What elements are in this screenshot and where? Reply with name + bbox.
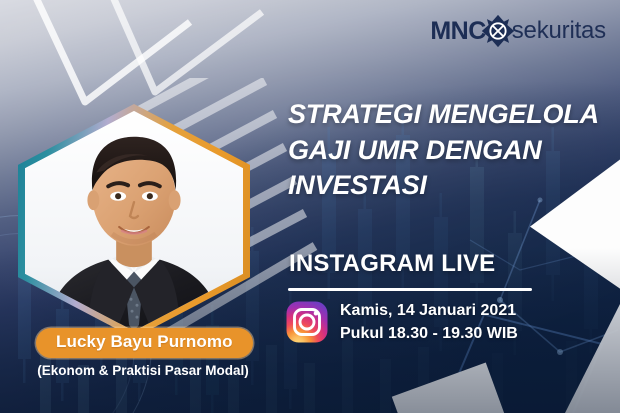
speaker-name-badge: Lucky Bayu Purnomo bbox=[36, 328, 253, 358]
event-schedule: Kamis, 14 Januari 2021 Pukul 18.30 - 19.… bbox=[285, 299, 518, 345]
promo-poster: MNC sekuritas bbox=[0, 0, 620, 413]
speaker-photo-hexagon bbox=[18, 104, 250, 338]
page-title: STRATEGI MENGELOLA GAJI UMR DENGAN INVES… bbox=[288, 97, 608, 204]
schedule-text: Kamis, 14 Januari 2021 Pukul 18.30 - 19.… bbox=[340, 299, 518, 345]
event-time: Pukul 18.30 - 19.30 WIB bbox=[340, 322, 518, 345]
title-line-2: GAJI UMR DENGAN bbox=[288, 133, 608, 169]
speaker-portrait bbox=[25, 111, 243, 331]
hexagon-photo-clip bbox=[25, 111, 243, 331]
instagram-icon bbox=[285, 300, 329, 344]
speaker-credentials: (Ekonom & Praktisi Pasar Modal) bbox=[36, 363, 250, 378]
logo-text-mnc: MNC bbox=[430, 19, 485, 44]
title-line-1: STRATEGI MENGELOLA bbox=[288, 97, 608, 133]
platform-heading: INSTAGRAM LIVE bbox=[289, 250, 495, 278]
mnc-sekuritas-logo: MNC sekuritas bbox=[430, 14, 606, 48]
divider bbox=[288, 288, 532, 291]
logo-text-sekuritas: sekuritas bbox=[512, 19, 606, 43]
event-date: Kamis, 14 Januari 2021 bbox=[340, 299, 518, 322]
mnc-diamond-icon bbox=[481, 14, 515, 48]
title-line-3: INVESTASI bbox=[288, 168, 608, 204]
speaker-name: Lucky Bayu Purnomo bbox=[56, 332, 233, 352]
